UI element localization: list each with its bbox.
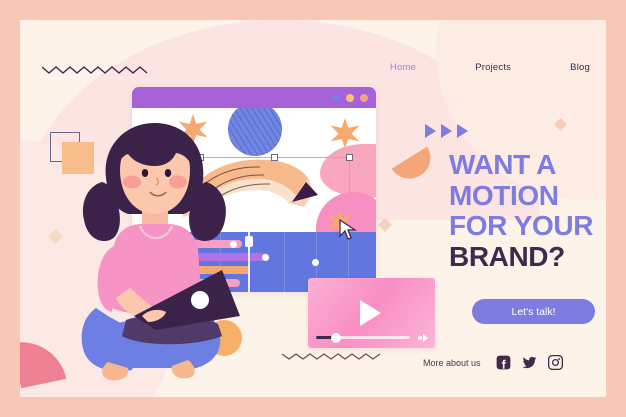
more-about-us-label: More about us <box>423 358 481 368</box>
timeline-keyframe[interactable] <box>312 259 319 266</box>
skip-triangle <box>423 334 428 342</box>
page-headline: WANT A MOTION FOR YOUR BRAND? <box>449 150 606 272</box>
window-dot-salmon-icon[interactable] <box>360 94 368 102</box>
triangle-glyph <box>457 124 468 138</box>
window-dot-yellow-icon[interactable] <box>346 94 354 102</box>
selection-handle[interactable] <box>346 154 353 161</box>
skip-next-icon[interactable] <box>418 334 429 342</box>
instagram-icon[interactable] <box>548 355 563 370</box>
twitter-icon[interactable] <box>522 355 537 370</box>
window-dot-blue-icon[interactable] <box>332 94 340 102</box>
mouse-cursor-icon <box>338 219 358 241</box>
woman-with-laptop-illustration <box>72 120 240 382</box>
zigzag-line-icon <box>42 64 150 76</box>
fast-forward-triangles-icon <box>425 124 468 138</box>
poster-frame: Home Projects Blog <box>0 0 626 417</box>
zigzag-line-icon <box>282 350 386 362</box>
facebook-icon[interactable] <box>496 355 511 370</box>
nav-item-blog[interactable]: Blog <box>570 62 590 73</box>
diamond-decoration <box>378 218 392 232</box>
nav-item-projects[interactable]: Projects <box>475 62 511 73</box>
headline-line-3: FOR YOUR <box>449 211 606 242</box>
video-progress-bar[interactable] <box>316 336 410 339</box>
triangle-glyph <box>425 124 436 138</box>
filled-square-decoration <box>62 142 94 174</box>
headline-line-4: BRAND? <box>449 242 606 273</box>
skip-dot <box>418 336 422 340</box>
nav-item-home[interactable]: Home <box>390 62 416 73</box>
headline-line-2: MOTION <box>449 181 606 212</box>
timeline-keyframe[interactable] <box>262 254 269 261</box>
landing-page: Home Projects Blog <box>20 20 606 397</box>
headline-line-1: WANT A <box>449 150 606 181</box>
footer-social-row: More about us <box>423 355 563 370</box>
video-scrubber-handle[interactable] <box>331 333 341 343</box>
video-player-card[interactable] <box>308 278 435 348</box>
play-triangle-icon[interactable] <box>360 300 381 326</box>
main-navigation: Home Projects Blog <box>390 62 590 73</box>
timeline-playhead[interactable] <box>248 232 250 292</box>
timeline-playhead-knob[interactable] <box>245 236 253 247</box>
triangle-glyph <box>441 124 452 138</box>
selection-handle[interactable] <box>271 154 278 161</box>
window-titlebar <box>132 87 376 108</box>
timeline-gridline <box>284 232 285 292</box>
lets-talk-button[interactable]: Let's talk! <box>472 299 595 324</box>
